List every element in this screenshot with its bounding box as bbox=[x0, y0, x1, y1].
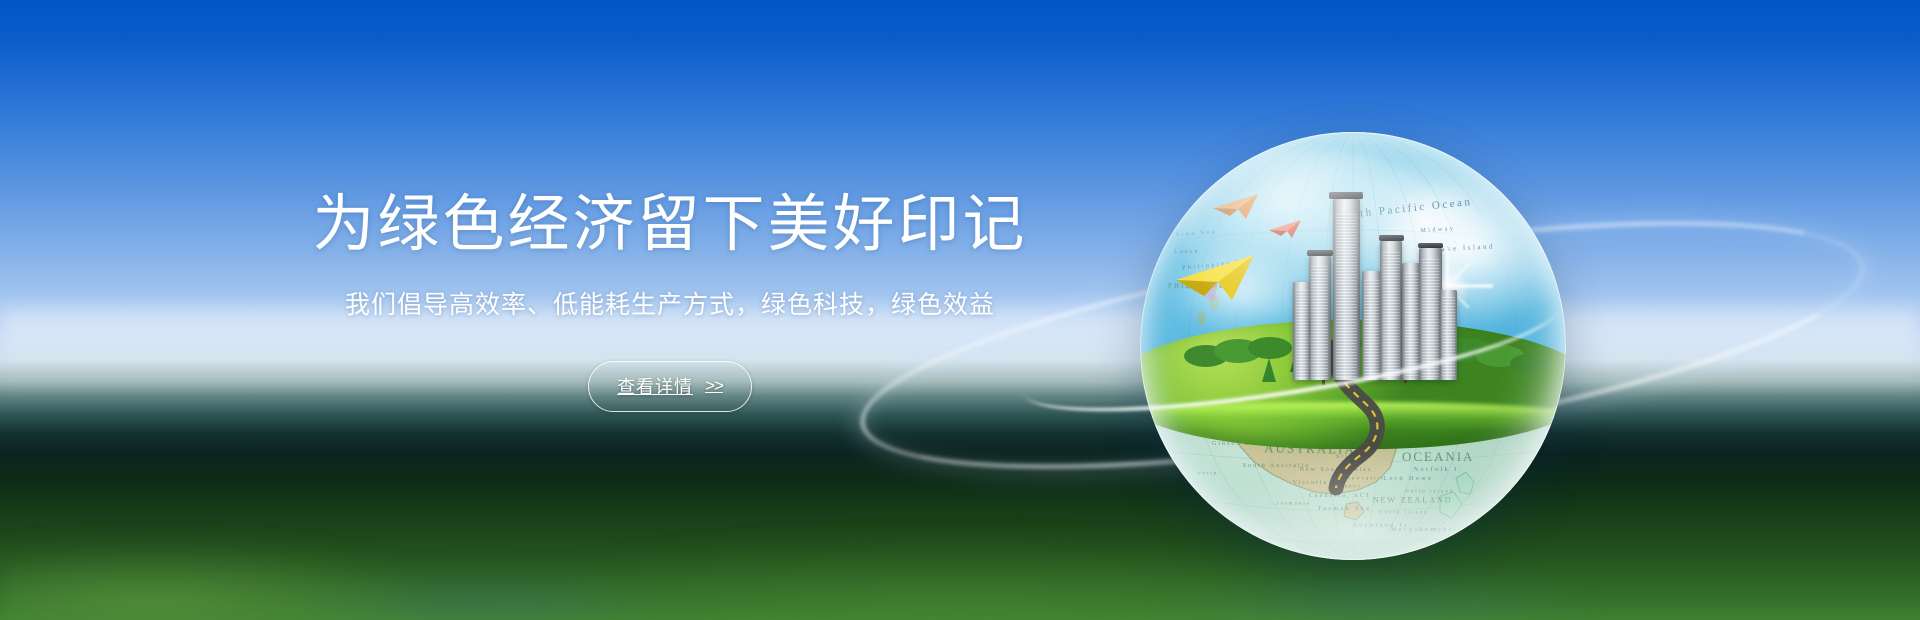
page-title: 为绿色经济留下美好印记 bbox=[312, 192, 1027, 259]
building-5 bbox=[1380, 241, 1402, 380]
view-details-label: 查看详情 bbox=[617, 373, 693, 399]
banner-copy-block: 为绿色经济留下美好印记 我们倡导高效率、低能耗生产方式，绿色科技，绿色效益 查看… bbox=[0, 0, 1340, 620]
view-details-button[interactable]: 查看详情 >> bbox=[588, 361, 752, 412]
building-7 bbox=[1419, 248, 1441, 380]
building-8 bbox=[1440, 290, 1457, 380]
banner-subtitle: 我们倡导高效率、低能耗生产方式，绿色科技，绿色效益 bbox=[345, 288, 995, 323]
building-4 bbox=[1362, 271, 1382, 380]
building-5-cap bbox=[1379, 235, 1405, 241]
double-chevron-right-icon: >> bbox=[705, 376, 723, 396]
hero-banner: North Pacific OceanWake IslandMidwayPHIL… bbox=[0, 0, 1920, 620]
building-7-cap bbox=[1418, 243, 1444, 249]
building-6 bbox=[1402, 263, 1421, 380]
